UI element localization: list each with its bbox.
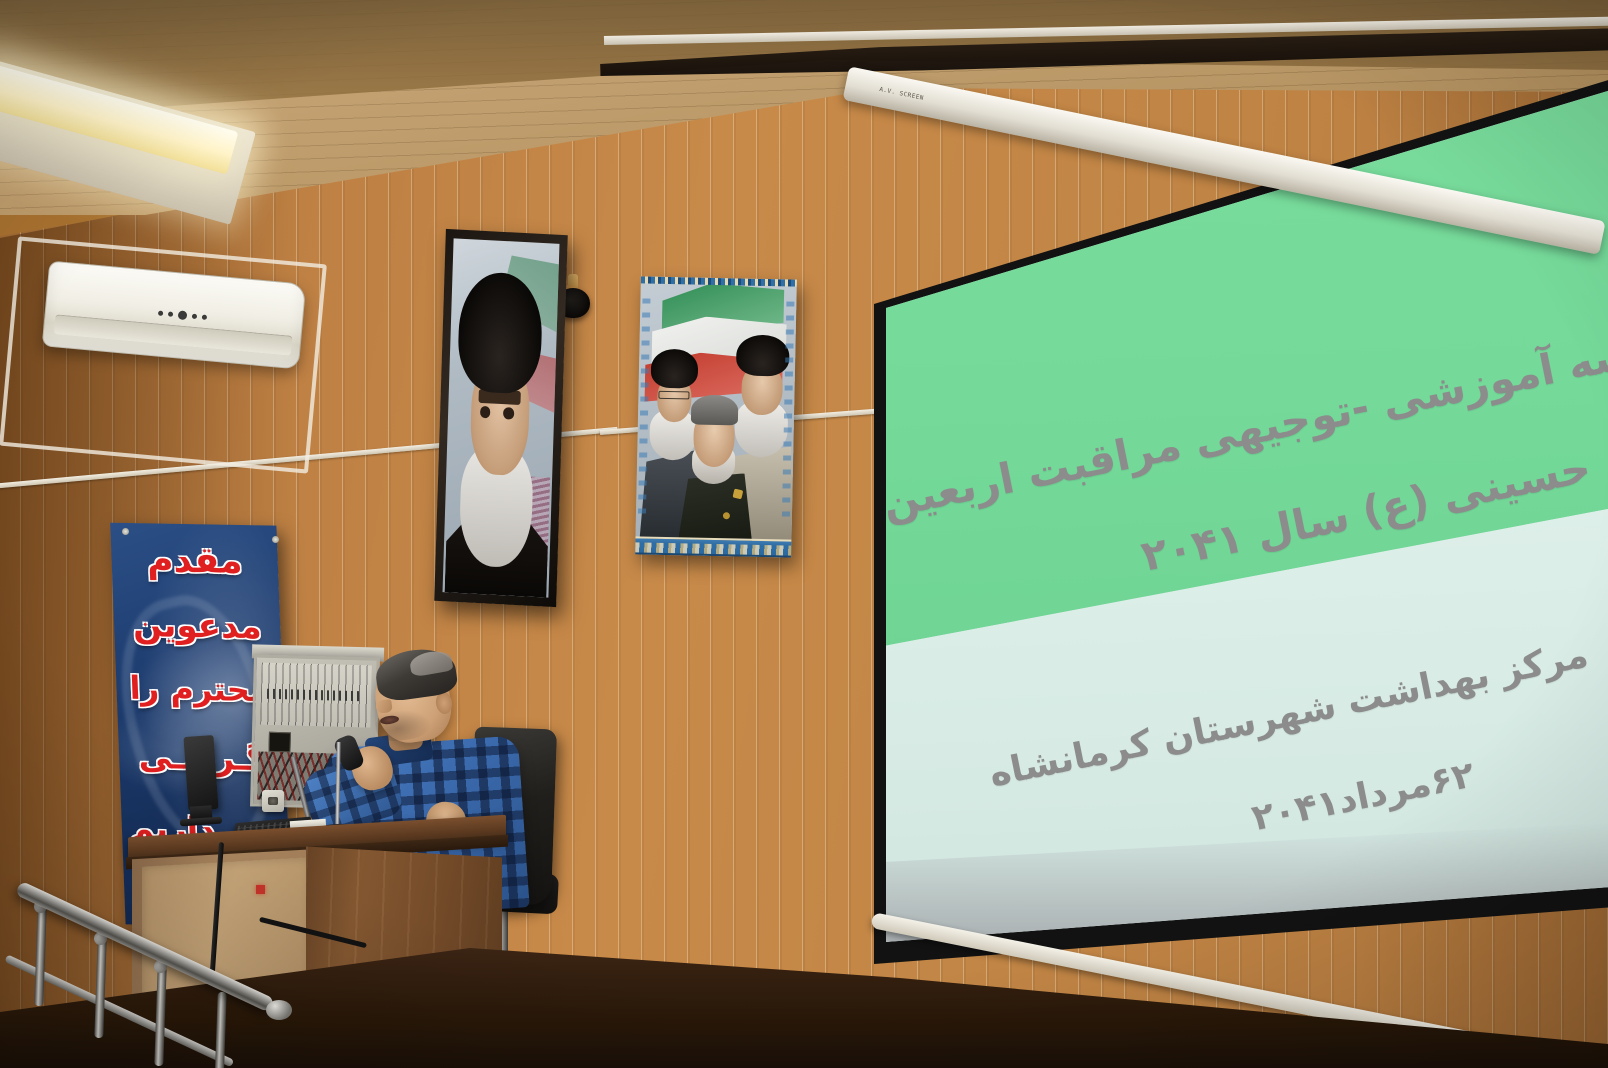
wall-socket-icon[interactable] (262, 790, 284, 812)
handrail-end-knob (266, 1000, 292, 1020)
poster-border-bottom (635, 536, 791, 557)
podium-red-indicator (256, 885, 265, 894)
banner-line-2: مدعوین (113, 605, 281, 648)
poster-figure3-turban (736, 334, 790, 377)
poster-three-figures (635, 276, 797, 557)
portrait-eye-right (503, 407, 514, 419)
poster-figure1-turban (651, 349, 699, 389)
computer-monitor (183, 735, 218, 811)
conference-hall-photo: جلسه آموزشی -توجیهی مراقبت اربعین حسینی … (0, 0, 1608, 1068)
banner-grommet-right (272, 536, 279, 543)
ac-air-vent (54, 314, 293, 355)
screen-brand-label: A.V. SCREEN (879, 86, 925, 102)
portrait-image (443, 238, 560, 597)
poster-figure1-glasses-icon (659, 391, 690, 400)
ac-indicator-lights (158, 309, 208, 322)
banner-grommet-left (122, 528, 129, 535)
poster-figure2-badge-2 (723, 512, 730, 519)
framed-portrait-khomeini (434, 229, 568, 607)
banner-line-1: مقدم (111, 539, 279, 583)
poster-figure2-hair (691, 394, 738, 426)
